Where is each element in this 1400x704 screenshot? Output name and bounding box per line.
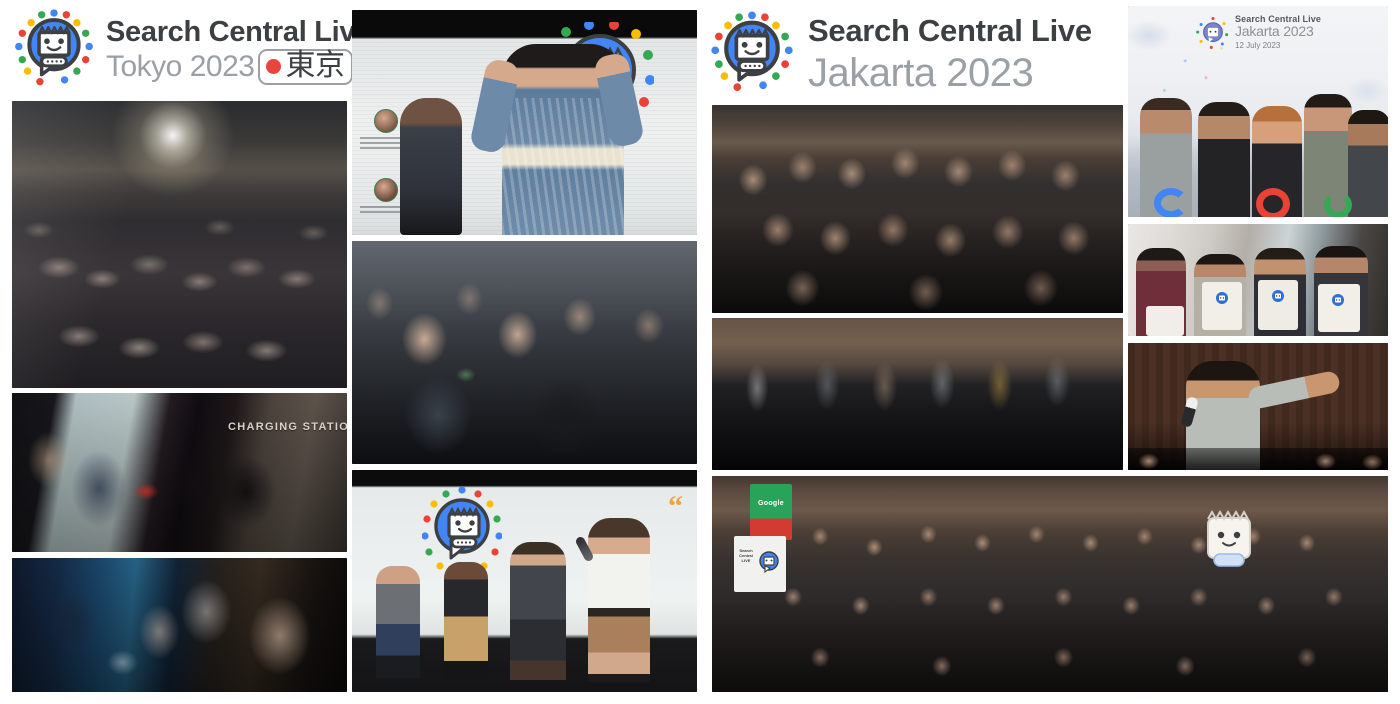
photo-jakarta-panel-stage: Five panelists seated on a dark stage, o… xyxy=(712,318,1123,470)
photo-jakarta-group-photo: Google Search Central LIVE Huge group ph… xyxy=(712,476,1388,692)
mascot-cutout-icon xyxy=(1200,510,1258,572)
tokyo-title-line2-row: Tokyo 2023 東京 xyxy=(106,49,371,85)
slide-speaker-avatar-2 xyxy=(374,178,398,202)
banner-mascot-icon xyxy=(1196,16,1230,50)
slide-speaker-avatar-1 xyxy=(374,109,398,133)
photo-texture xyxy=(12,393,347,552)
tote-mascot-icon xyxy=(1330,292,1346,310)
google-letter-prop-O xyxy=(1256,188,1290,217)
photo-jakarta-tote-bags: Four attendees holding up white Search C… xyxy=(1128,224,1388,336)
photo-texture xyxy=(712,105,1123,313)
person-clapping xyxy=(400,98,462,235)
photo-tokyo-audience-wide: Large seated audience in a conference ha… xyxy=(12,101,347,388)
tokyo-city-badge: 東京 xyxy=(258,49,353,85)
search-central-mascot-icon xyxy=(10,6,98,94)
person-2 xyxy=(1198,102,1250,217)
panelist-2 xyxy=(444,562,488,680)
photo-jakarta-audience: Packed auditorium audience waving and sm… xyxy=(712,105,1123,313)
event-board-line3: LIVE xyxy=(736,558,756,563)
audience-foreground xyxy=(1128,448,1388,470)
tote-bag-1 xyxy=(1146,306,1184,336)
photo-jakarta-question-mic: Attendee standing with a microphone aski… xyxy=(1128,343,1388,470)
person-5 xyxy=(1348,110,1388,217)
photowall-event-banner: Search Central Live Jakarta 2023 12 July… xyxy=(1196,14,1321,51)
tote-mascot-icon xyxy=(1270,288,1286,306)
tokyo-city-badge-kanji: 東京 xyxy=(285,51,344,81)
collage-page: Search Central Live Tokyo 2023 東京 Large … xyxy=(0,0,1400,704)
photo-tokyo-heart-hands: Two attendees forming a heart shape with… xyxy=(352,241,697,464)
photo-texture xyxy=(712,318,1123,470)
jakarta-title-line2: Jakarta 2023 xyxy=(808,51,1092,96)
photo-tokyo-panel-stage: “ Four panelists seated on stage, one sp… xyxy=(352,470,697,692)
board-mascot-icon xyxy=(756,548,782,578)
panelist-1 xyxy=(376,566,420,678)
photo-jakarta-photowall-group: Search Central Live Jakarta 2023 12 July… xyxy=(1128,6,1388,217)
google-sign-text: Google xyxy=(758,500,784,507)
photo-texture xyxy=(712,476,1388,692)
tokyo-title-line2: Tokyo 2023 xyxy=(106,50,254,84)
jakarta-title-line1: Search Central Live xyxy=(808,13,1092,49)
tote-mascot-icon xyxy=(1214,290,1230,308)
photo-tokyo-yukata-speaker: Speaker in a blue yukata raising both ha… xyxy=(352,10,697,235)
banner-line2: Jakarta 2023 xyxy=(1235,24,1321,39)
jakarta-header: Search Central Live Jakarta 2023 xyxy=(706,8,1126,100)
photo-tokyo-charging-station: CHARGING STATION Attendees exchanging a … xyxy=(12,393,347,552)
charging-station-sign: CHARGING STATION xyxy=(228,421,347,433)
photo-tokyo-evening-networking: Attendees chatting and laughing at an ev… xyxy=(12,558,347,692)
google-letter-prop-G xyxy=(1154,188,1188,217)
google-standee xyxy=(750,484,792,540)
tokyo-header: Search Central Live Tokyo 2023 東京 xyxy=(10,8,350,92)
event-board-text: Search Central LIVE xyxy=(736,548,756,563)
tokyo-header-text: Search Central Live Tokyo 2023 東京 xyxy=(106,16,371,85)
search-central-mascot-icon xyxy=(706,8,798,100)
photo-texture xyxy=(352,241,697,464)
photo-texture xyxy=(12,101,347,388)
photo-texture xyxy=(12,558,347,692)
banner-text-block: Search Central Live Jakarta 2023 12 July… xyxy=(1235,14,1321,51)
panelist-3 xyxy=(510,542,566,680)
banner-line3: 12 July 2023 xyxy=(1235,41,1321,51)
slide-quote-mark: “ xyxy=(668,492,683,522)
google-letter-prop-E xyxy=(1324,192,1352,217)
japan-flag-dot-icon xyxy=(266,59,281,74)
jakarta-header-text: Search Central Live Jakarta 2023 xyxy=(808,13,1092,96)
tokyo-title-line1: Search Central Live xyxy=(106,16,371,49)
panelist-4-speaking xyxy=(588,518,650,682)
